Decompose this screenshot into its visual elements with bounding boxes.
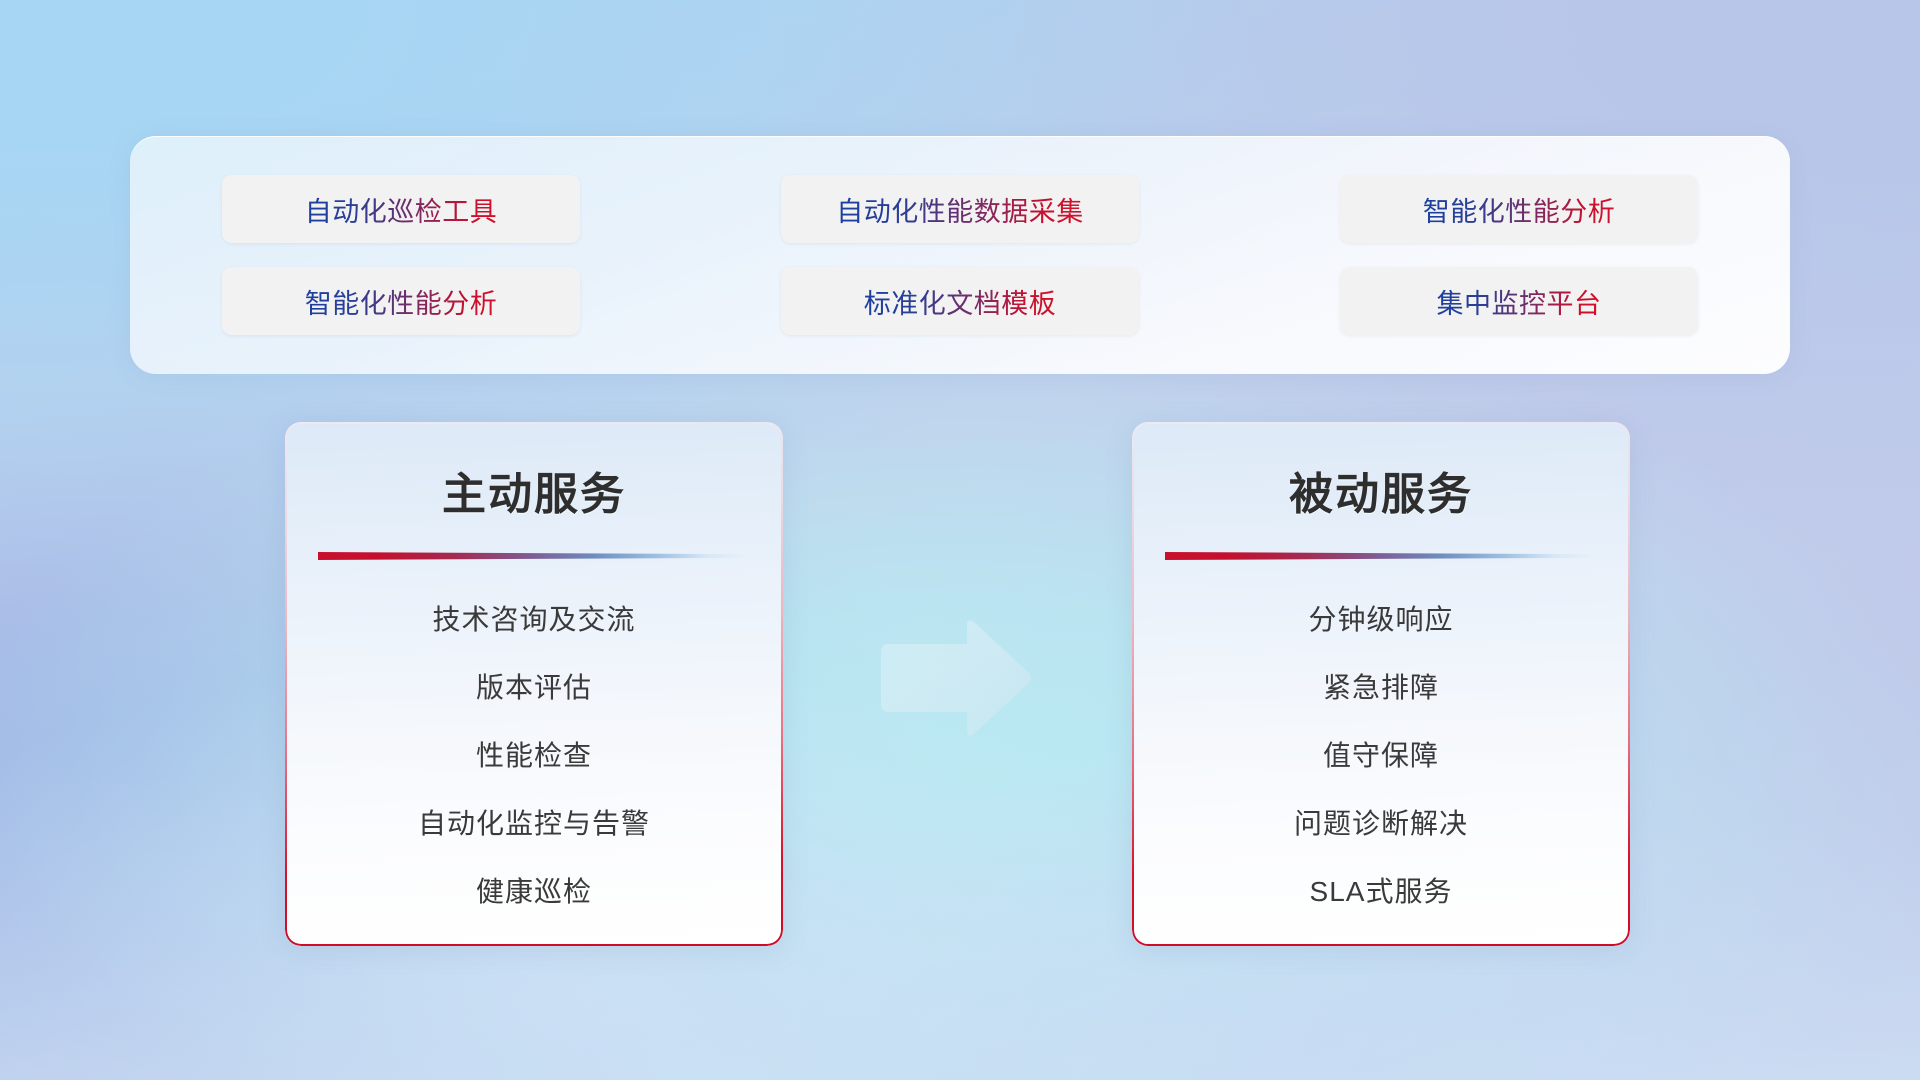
capability-pill-label: 自动化巡检工具 — [305, 190, 498, 229]
capability-pill[interactable]: 标准化文档模板 — [781, 267, 1139, 335]
capability-pill[interactable]: 智能化性能分析 — [222, 267, 580, 335]
capability-pill-label: 标准化文档模板 — [864, 282, 1057, 321]
service-item-list: 分钟级响应 紧急排障 值守保障 问题诊断解决 SLA式服务 — [1132, 586, 1630, 926]
service-list-item: 紧急排障 — [1132, 654, 1630, 722]
capability-pill[interactable]: 智能化性能分析 — [1340, 175, 1698, 243]
right-arrow-icon — [875, 618, 1035, 738]
capability-pill[interactable]: 自动化巡检工具 — [222, 175, 580, 243]
service-list-item: 版本评估 — [285, 654, 783, 722]
capability-row-2: 智能化性能分析 标准化文档模板 集中监控平台 — [222, 267, 1698, 335]
service-list-item: 健康巡检 — [285, 858, 783, 926]
title-divider — [318, 552, 750, 560]
service-list-item: 技术咨询及交流 — [285, 586, 783, 654]
service-list-item: 分钟级响应 — [1132, 586, 1630, 654]
capabilities-panel: 自动化巡检工具 自动化性能数据采集 智能化性能分析 智能化性能分析 标准化文档模… — [130, 136, 1790, 374]
service-card-reactive: 被动服务 分钟级响应 紧急排障 值守保障 问题诊断解决 SLA式服务 — [1132, 422, 1630, 946]
service-card-proactive: 主动服务 技术咨询及交流 版本评估 性能检查 自动化监控与告警 健康巡检 — [285, 422, 783, 946]
service-list-item: SLA式服务 — [1132, 858, 1630, 926]
service-card-title: 主动服务 — [285, 458, 783, 522]
service-list-item: 问题诊断解决 — [1132, 790, 1630, 858]
capability-pill-label: 自动化性能数据采集 — [836, 190, 1084, 229]
service-card-title: 被动服务 — [1132, 458, 1630, 522]
service-list-item: 性能检查 — [285, 722, 783, 790]
title-divider — [1165, 552, 1597, 560]
service-list-item: 自动化监控与告警 — [285, 790, 783, 858]
capability-pill[interactable]: 自动化性能数据采集 — [781, 175, 1139, 243]
capability-pill-label: 智能化性能分析 — [305, 282, 498, 321]
capability-pill-label: 智能化性能分析 — [1423, 190, 1616, 229]
capability-pill[interactable]: 集中监控平台 — [1340, 267, 1698, 335]
capability-row-1: 自动化巡检工具 自动化性能数据采集 智能化性能分析 — [222, 175, 1698, 243]
capability-pill-label: 集中监控平台 — [1437, 282, 1602, 321]
service-list-item: 值守保障 — [1132, 722, 1630, 790]
service-item-list: 技术咨询及交流 版本评估 性能检查 自动化监控与告警 健康巡检 — [285, 586, 783, 926]
